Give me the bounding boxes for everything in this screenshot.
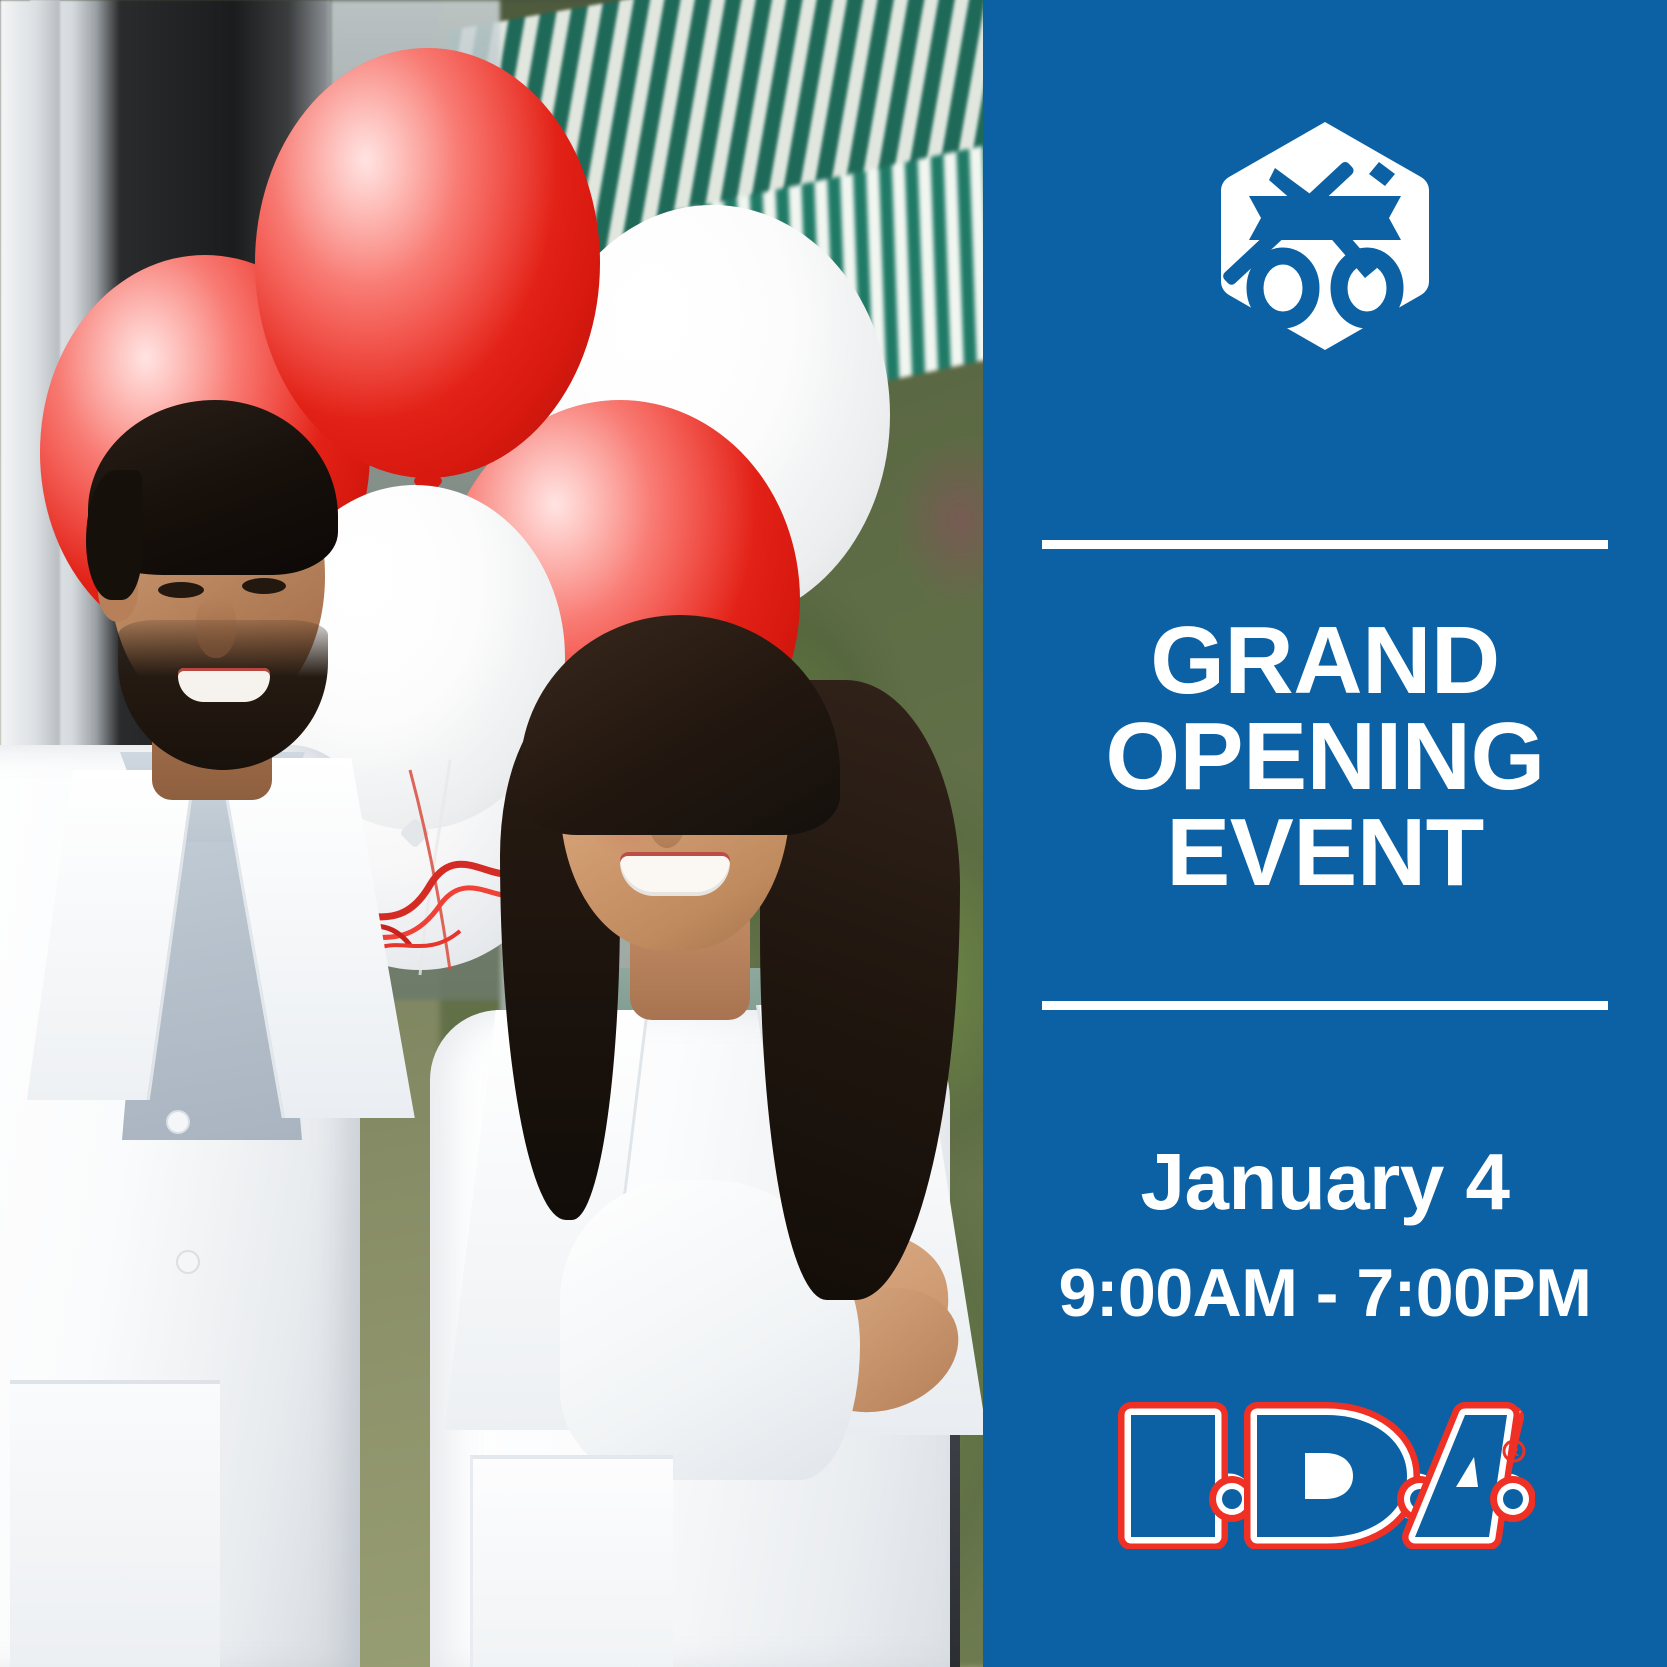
coat-button xyxy=(178,1252,198,1272)
ida-logo: R xyxy=(1115,1399,1535,1549)
eye-right xyxy=(242,578,286,594)
page-title: GRAND OPENING EVENT xyxy=(1005,613,1645,901)
pharmacists-photo xyxy=(0,0,983,1667)
divider-top xyxy=(1042,540,1608,549)
balloon-gloss xyxy=(255,48,600,478)
event-time: 9:00AM - 7:00PM xyxy=(1059,1254,1592,1332)
smile xyxy=(178,668,270,702)
coat-button xyxy=(168,1112,188,1132)
smile xyxy=(620,852,730,896)
grand-opening-poster: GRAND OPENING EVENT January 4 9:00AM - 7… xyxy=(0,0,1667,1667)
divider-bottom xyxy=(1042,1001,1608,1010)
eye-left xyxy=(158,582,204,598)
headline-line-2: OPENING xyxy=(1005,709,1645,805)
coat-pocket xyxy=(470,1455,673,1667)
headline-line-3: EVENT xyxy=(1005,805,1645,901)
svg-text:R: R xyxy=(1509,1445,1520,1460)
hair-side xyxy=(86,470,142,600)
event-date: January 4 xyxy=(1140,1136,1509,1228)
event-info-panel: GRAND OPENING EVENT January 4 9:00AM - 7… xyxy=(983,0,1667,1667)
coat-pocket xyxy=(10,1380,220,1667)
nose xyxy=(196,596,236,658)
ribbon-cutting-scissors-hexagon-icon xyxy=(1209,118,1441,354)
red-balloon xyxy=(255,48,600,478)
headline-line-1: GRAND xyxy=(1005,613,1645,709)
